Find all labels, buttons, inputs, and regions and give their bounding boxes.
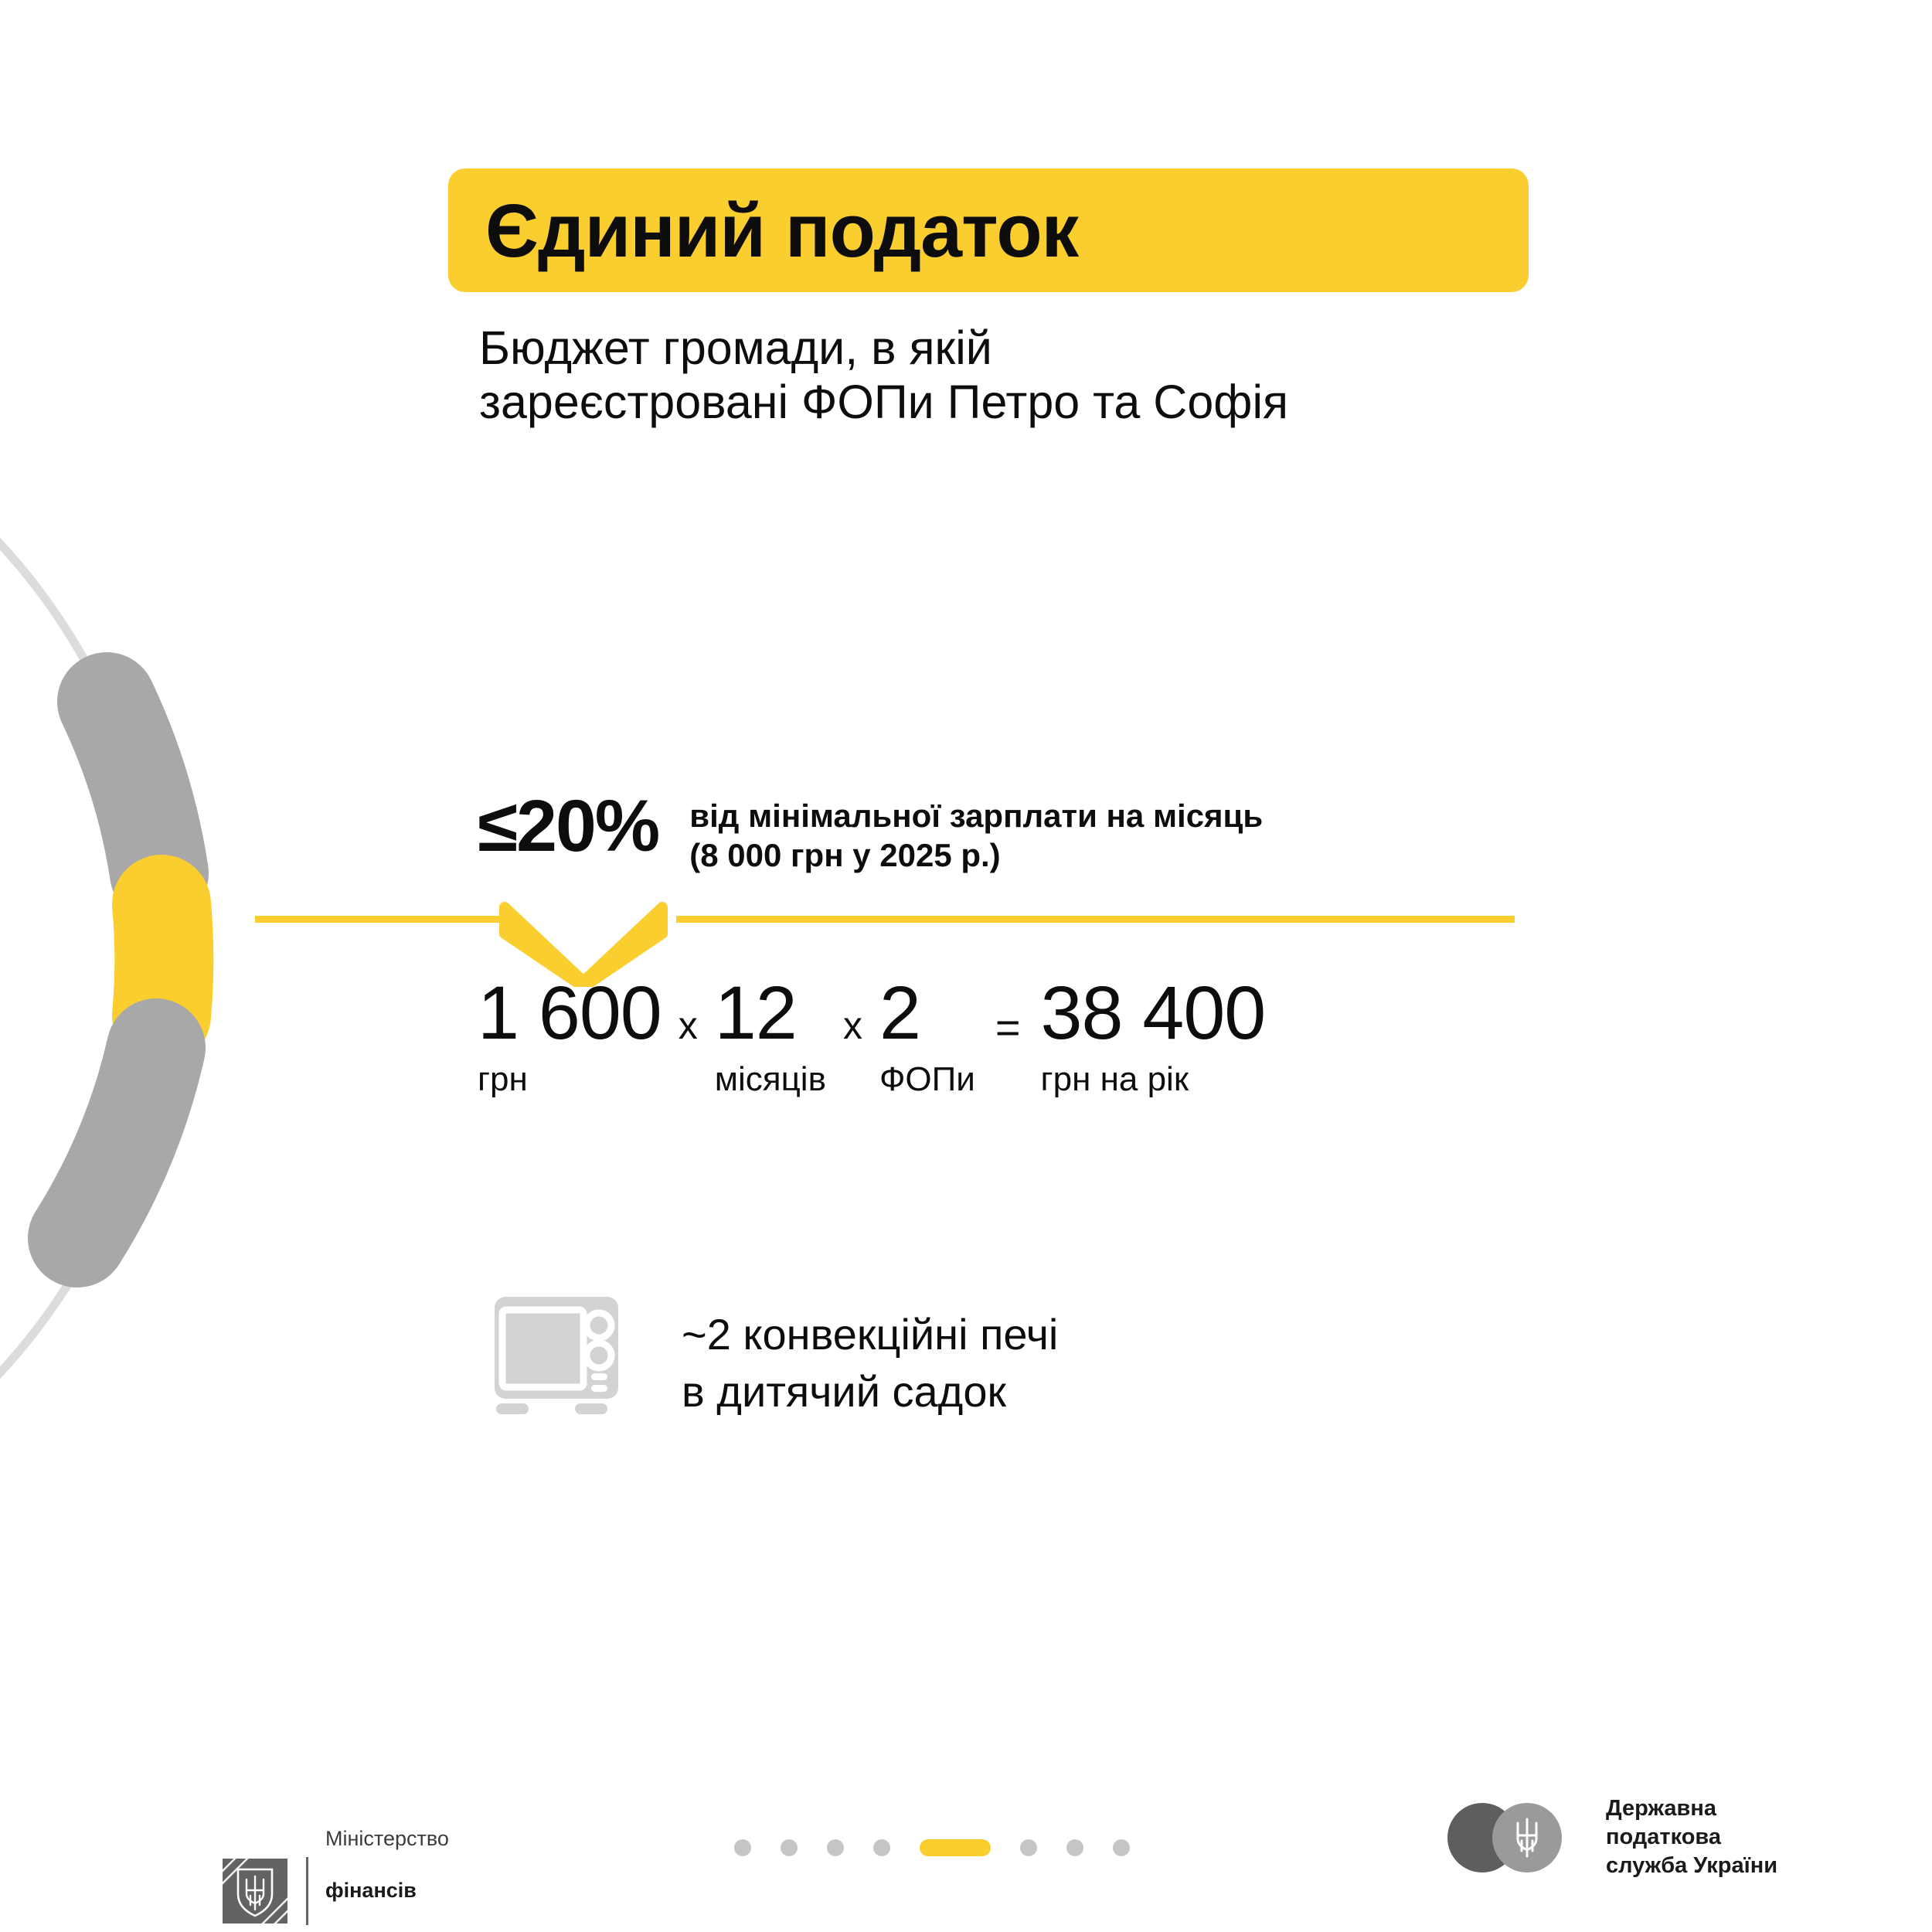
pagination-dot-5-active[interactable] — [920, 1839, 991, 1856]
calc-result-number: 38 400 — [1041, 975, 1266, 1050]
calc-term-3: 2 ФОПи — [879, 975, 975, 1097]
calc-term-3-label: ФОПи — [879, 1063, 975, 1097]
calc-term-1-label: грн — [478, 1063, 662, 1097]
ministry-of-finance-logo: Міністерство фінансів України — [223, 1801, 449, 1932]
pagination-dot-4[interactable] — [873, 1839, 890, 1856]
calc-operator-multiply-1: x — [662, 1006, 715, 1045]
calc-result: 38 400 грн на рік — [1041, 975, 1266, 1097]
calc-operator-equals: = — [975, 1006, 1041, 1049]
calc-term-3-number: 2 — [879, 975, 975, 1050]
equivalent-row: ~2 конвекційні печі в дитячий садок — [495, 1297, 1058, 1430]
calc-term-2: 12 місяців — [715, 975, 826, 1097]
title-banner: Єдиний податок — [448, 168, 1529, 292]
logo-divider — [306, 1857, 308, 1925]
rate-row: ≤20% від мінімальної зарплати на місяць … — [478, 790, 1263, 875]
page-subtitle: Бюджет громади, в якій зареєстровані ФОП… — [479, 321, 1600, 429]
convection-oven-icon — [495, 1297, 635, 1430]
calculation-row: 1 600 грн x 12 місяців x 2 ФОПи = 38 400… — [478, 975, 1265, 1097]
calc-result-label: грн на рік — [1041, 1063, 1266, 1097]
arc-guide-circle — [0, 348, 162, 1569]
calc-term-2-number: 12 — [715, 975, 826, 1050]
calc-term-2-label: місяців — [715, 1063, 826, 1097]
pagination-dot-1[interactable] — [734, 1839, 751, 1856]
arc-segments — [77, 702, 164, 1238]
calc-term-1-number: 1 600 — [478, 975, 662, 1050]
ministry-name-line2: фінансів — [325, 1878, 449, 1903]
pagination-dots[interactable] — [734, 1839, 1130, 1856]
arc-segment-gray-bottom — [77, 1048, 156, 1238]
tax-service-logo: Державна податкова служба України — [1447, 1794, 1777, 1880]
tax-service-name: Державна податкова служба України — [1606, 1794, 1777, 1880]
rate-description: від мінімальної зарплати на місяць (8 00… — [689, 796, 1263, 875]
ministry-name-line1: Міністерство — [325, 1826, 449, 1852]
pagination-dot-6[interactable] — [1020, 1839, 1037, 1856]
tax-service-emblem-icon — [1447, 1802, 1583, 1873]
divider-line-right — [676, 916, 1515, 923]
pagination-dot-8[interactable] — [1113, 1839, 1130, 1856]
timeline-arc-decoration — [0, 332, 325, 1584]
page-title: Єдиний податок — [448, 193, 1078, 268]
equivalent-text: ~2 конвекційні печі в дитячий садок — [682, 1306, 1058, 1420]
arc-segment-gray-top — [107, 702, 159, 873]
ministry-name: Міністерство фінансів України — [325, 1801, 449, 1932]
arc-segment-active-yellow — [162, 904, 164, 1015]
calc-operator-multiply-2: x — [826, 1006, 879, 1045]
pagination-dot-3[interactable] — [827, 1839, 844, 1856]
divider-line-left — [255, 916, 502, 923]
infographic-slide: Єдиний податок Бюджет громади, в якій за… — [0, 0, 1932, 1932]
ministry-emblem-icon — [223, 1859, 287, 1923]
calc-term-1: 1 600 грн — [478, 975, 662, 1097]
rate-value: ≤20% — [478, 790, 658, 863]
pagination-dot-7[interactable] — [1066, 1839, 1083, 1856]
pagination-dot-2[interactable] — [781, 1839, 798, 1856]
